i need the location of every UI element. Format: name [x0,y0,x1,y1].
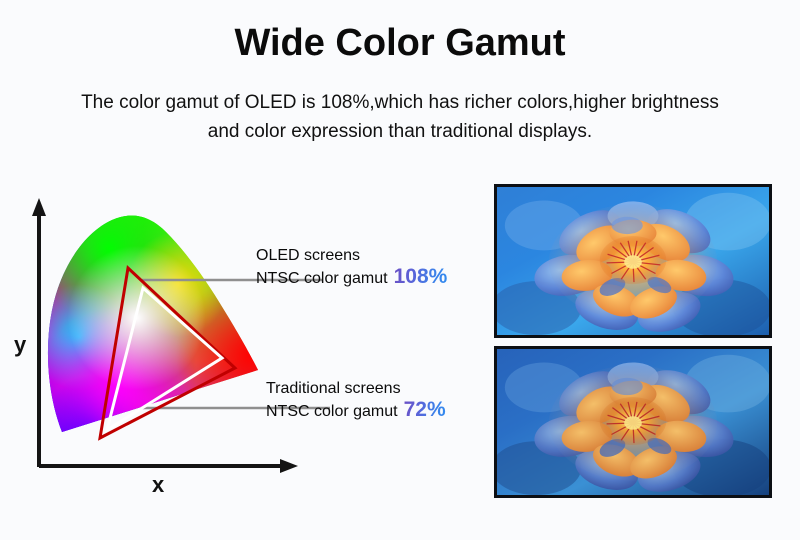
traditional-screen-panel [494,346,772,498]
annotation-traditional-line2: NTSC color gamut [266,403,398,421]
oled-screen-image [497,187,769,335]
annotation-oled-line2: NTSC color gamut [256,270,388,288]
traditional-screen-image [497,349,769,495]
oled-screen-panel [494,184,772,338]
annotation-oled: OLED screens NTSC color gamut 108% [256,247,447,289]
flower-image-bottom [497,349,769,495]
chromaticity-svg [0,180,480,510]
subtitle-line-1: The color gamut of OLED is 108%,which ha… [40,88,760,117]
flower-image-top [497,187,769,335]
page-title: Wide Color Gamut [0,22,800,65]
subtitle-line-2: and color expression than traditional di… [40,117,760,146]
axis-label-x: x [152,472,164,498]
axis-label-y: y [14,332,26,358]
page-subtitle: The color gamut of OLED is 108%,which ha… [40,88,760,147]
chromaticity-chart: y x [0,180,480,510]
annotation-traditional: Traditional screens NTSC color gamut 72% [266,380,446,422]
annotation-oled-value: 108% [394,265,448,289]
annotation-traditional-value: 72% [404,398,446,422]
annotation-oled-line1: OLED screens [256,247,447,265]
slide-root: Wide Color Gamut The color gamut of OLED… [0,0,800,540]
annotation-traditional-line1: Traditional screens [266,380,446,398]
